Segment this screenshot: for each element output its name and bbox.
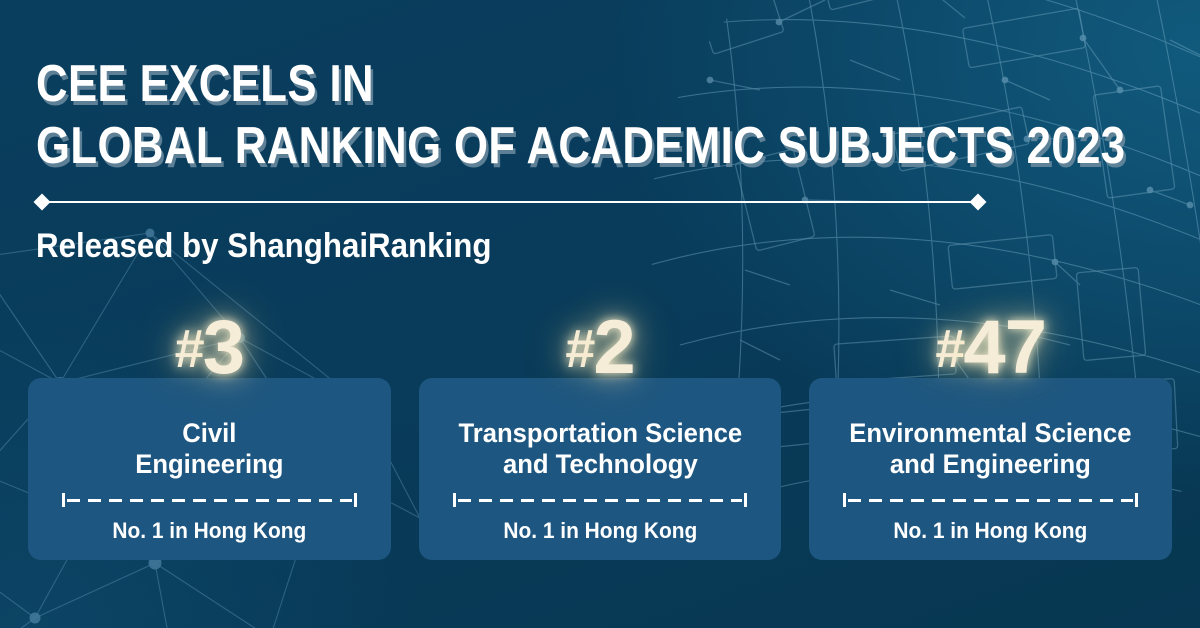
page-subtitle: Released by ShanghaiRanking <box>36 226 1066 266</box>
poster-header: CEE EXCELS IN GLOBAL RANKING OF ACADEMIC… <box>36 54 1156 266</box>
divider-cap-left <box>453 493 456 507</box>
divider-cap-right <box>354 493 357 507</box>
subject-line-2: and Technology <box>443 449 757 480</box>
divider-cap-left <box>62 493 65 507</box>
poster-canvas: CEE EXCELS IN GLOBAL RANKING OF ACADEMIC… <box>0 0 1200 628</box>
subject-line-2: and Engineering <box>834 449 1148 480</box>
page-title-line-1: CEE EXCELS IN <box>36 54 977 114</box>
divider-dashes <box>67 499 352 502</box>
divider-cap-left <box>843 493 846 507</box>
subject-line-2: Engineering <box>52 449 366 480</box>
ranking-card: #3 Civil Engineering No. 1 in Hong Kong <box>28 378 391 560</box>
hash-icon: # <box>565 319 593 379</box>
card-divider <box>62 493 357 507</box>
divider-rule <box>44 201 976 203</box>
divider-cap-right <box>1135 493 1138 507</box>
subject-name: Transportation Science and Technology <box>443 418 757 480</box>
diamond-right-icon <box>970 194 987 211</box>
divider-dashes <box>458 499 743 502</box>
ranking-card: #2 Transportation Science and Technology… <box>419 378 782 560</box>
page-title-line-2: GLOBAL RANKING OF ACADEMIC SUBJECTS 2023 <box>36 116 977 176</box>
subject-line-1: Environmental Science <box>834 418 1148 449</box>
rank-value: 47 <box>963 305 1046 390</box>
subject-line-1: Civil <box>52 418 366 449</box>
subject-name: Civil Engineering <box>52 418 366 480</box>
rank-number: #2 <box>419 310 782 387</box>
rank-number: #3 <box>28 310 391 387</box>
hash-icon: # <box>175 319 203 379</box>
title-divider <box>36 196 984 208</box>
hash-icon: # <box>935 319 963 379</box>
rank-value: 2 <box>593 305 634 390</box>
local-ranking-note: No. 1 in Hong Kong <box>834 518 1148 544</box>
ranking-cards-row: #3 Civil Engineering No. 1 in Hong Kong … <box>28 378 1172 560</box>
divider-cap-right <box>744 493 747 507</box>
card-divider <box>843 493 1138 507</box>
subject-name: Environmental Science and Engineering <box>834 418 1148 480</box>
local-ranking-note: No. 1 in Hong Kong <box>52 518 366 544</box>
subject-line-1: Transportation Science <box>443 418 757 449</box>
ranking-card: #47 Environmental Science and Engineerin… <box>809 378 1172 560</box>
local-ranking-note: No. 1 in Hong Kong <box>443 518 757 544</box>
card-divider <box>453 493 748 507</box>
rank-number: #47 <box>809 310 1172 387</box>
divider-dashes <box>848 499 1133 502</box>
rank-value: 3 <box>203 305 244 390</box>
